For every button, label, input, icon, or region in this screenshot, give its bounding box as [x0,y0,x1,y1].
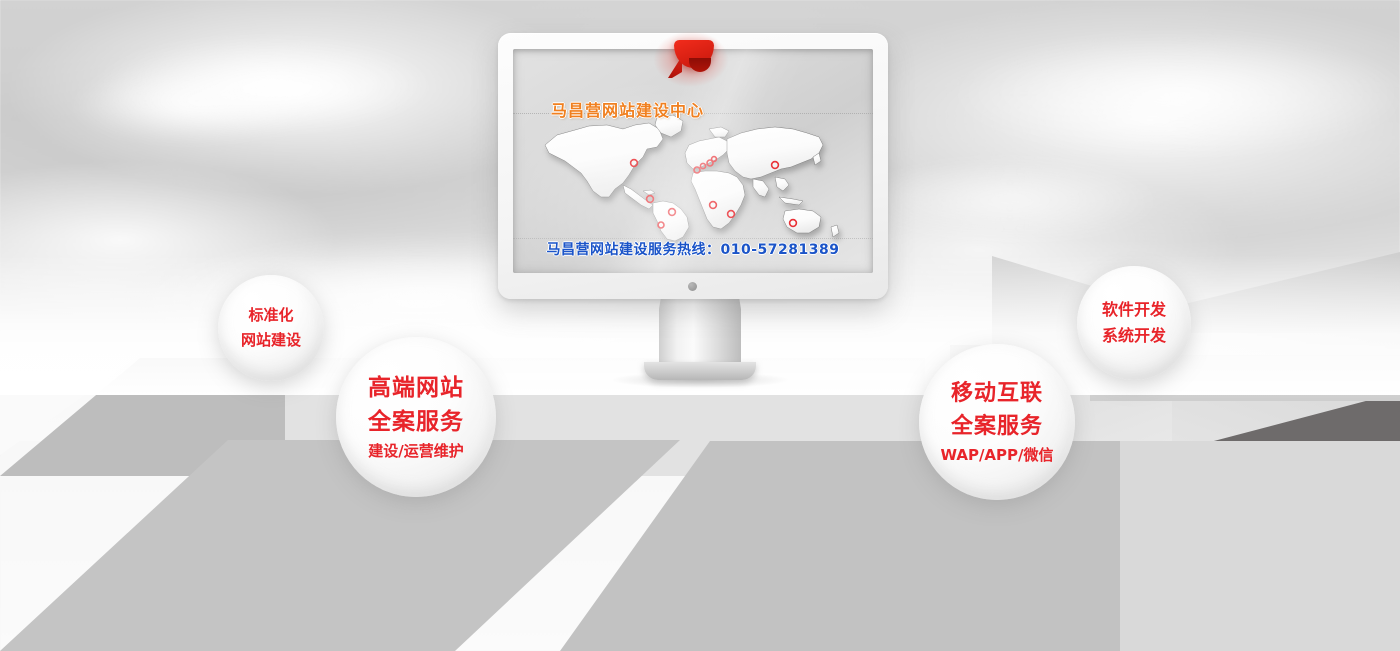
monitor-stand-neck [659,297,741,369]
bubble-line-1: 移动互联 [951,377,1043,410]
service-bubble-high-end-website[interactable]: 高端网站 全案服务 建设/运营维护 [336,337,496,497]
screen-hotline: 马昌营网站建设服务热线：010-57281389 [513,239,873,259]
service-bubble-mobile-internet[interactable]: 移动互联 全案服务 WAP/APP/微信 [919,344,1075,500]
bubble-line-1: 高端网站 [368,371,464,405]
floor-plate-right-low [1090,441,1400,651]
bubble-line-2: 全案服务 [368,405,464,439]
monitor-logo-dot [688,282,697,291]
bubble-line-1: 软件开发 [1102,297,1166,323]
ribbon-marker-icon [668,36,714,76]
screen-title: 马昌营网站建设中心 [551,97,704,121]
bubble-line-3: WAP/APP/微信 [940,443,1053,467]
monitor-stand-foot [644,362,756,380]
monitor-chin [498,273,888,299]
bubble-line-2: 全案服务 [951,410,1043,443]
banner-stage: 马昌营网站建设中心 马昌营网站建设服务热线：010-57281389 标准化 网… [0,0,1400,651]
bubble-line-2: 网站建设 [241,328,301,353]
service-bubble-standard-website[interactable]: 标准化 网站建设 [218,275,324,381]
bubble-line-1: 标准化 [248,303,293,328]
bubble-line-3: 建设/运营维护 [368,439,463,463]
bubble-line-2: 系统开发 [1102,323,1166,349]
service-bubble-software-development[interactable]: 软件开发 系统开发 [1077,266,1191,380]
